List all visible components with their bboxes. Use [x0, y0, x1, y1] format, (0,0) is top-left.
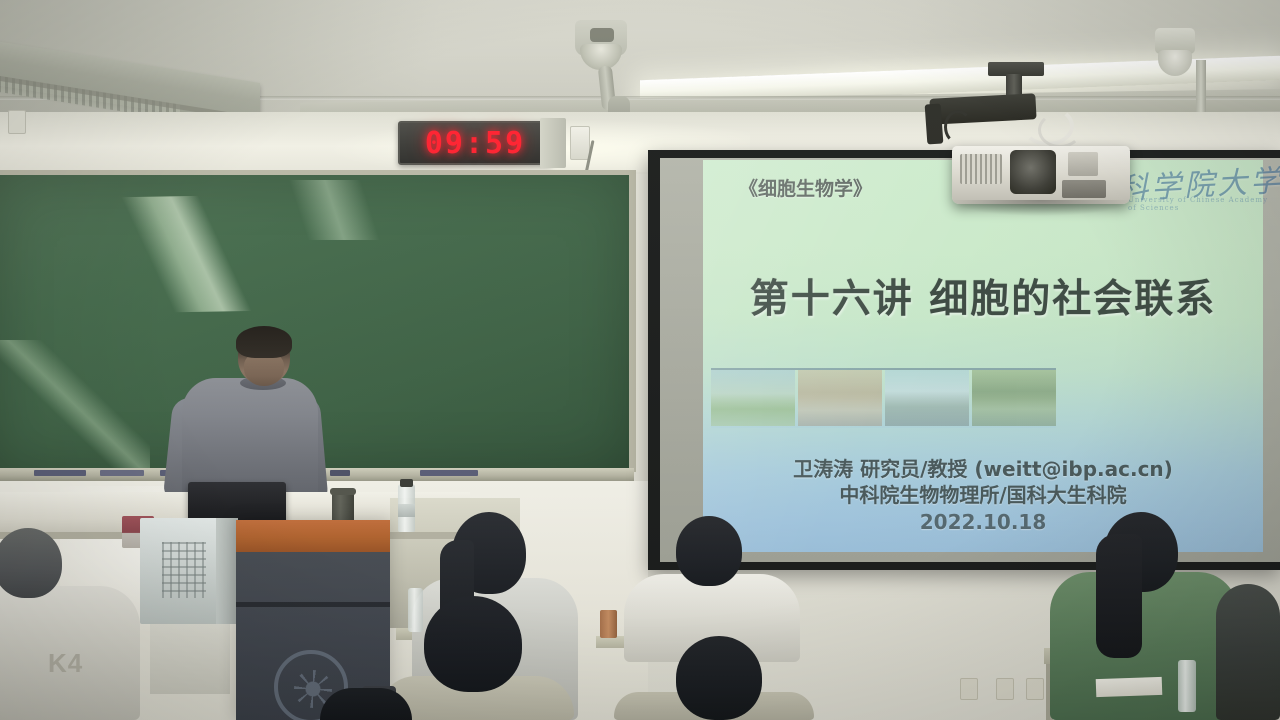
student-center-back-head — [676, 516, 742, 586]
wall-clock: 09:59 — [398, 121, 552, 165]
student-center-low-head — [676, 636, 762, 720]
student-far-right-body — [1216, 584, 1280, 720]
projector-cable-dark — [944, 110, 972, 144]
projector-lens-icon — [1010, 150, 1056, 194]
projected-slide: 《细胞生物学》 第十六讲 细胞的社会联系 卫涛涛 研究员/教授 (weitt@i… — [703, 160, 1263, 552]
projector-mount-clip — [925, 103, 944, 144]
university-watermark-subtext: University of Chinese Academy of Science… — [1128, 196, 1280, 212]
projector-panel — [1068, 152, 1098, 176]
projector-cable-white-secondary — [1038, 112, 1082, 148]
projector-shadow — [952, 200, 1130, 216]
projector-panel-lower — [1062, 180, 1106, 198]
lecture-hall-scene: 09:59 《细胞生物学》 第十六讲 细胞的社会联系 卫涛涛 研究员/教授 (w… — [0, 0, 1280, 720]
corner-sensor-stem — [1196, 60, 1206, 118]
eraser — [34, 470, 86, 476]
student-center-head — [424, 596, 522, 692]
lecturer-hair — [236, 326, 292, 358]
projector-vent — [960, 154, 1002, 184]
wall-plate — [570, 126, 590, 160]
wall-outlet-left — [8, 110, 26, 134]
clock-time-display: 09:59 — [425, 126, 525, 161]
wall-outlet — [1026, 678, 1044, 700]
slide-lecture-title: 第十六讲 细胞的社会联系 — [703, 268, 1263, 324]
water-bottle-on-desk-right — [1178, 660, 1196, 712]
wall-outlet — [996, 678, 1014, 700]
cup-on-desk-center — [600, 610, 617, 638]
podium-top-surface — [236, 520, 390, 552]
chalkboard-glare-lower — [0, 340, 150, 470]
slide-date-line: 2022.10.18 — [703, 509, 1263, 535]
clock-bracket — [540, 118, 566, 168]
student-left-front-head — [0, 528, 62, 598]
wall-outlet — [960, 678, 978, 700]
water-bottle-cap — [400, 479, 413, 487]
student-bottom-center-head — [320, 688, 412, 720]
slide-footer: 卫涛涛 研究员/教授 (weitt@ibp.ac.cn) 中科院生物物理所/国科… — [703, 456, 1263, 535]
student-right-hair — [1096, 534, 1142, 658]
cabinet-stand — [150, 624, 230, 694]
student-jacket-mark: K4 — [48, 648, 83, 679]
eraser — [100, 470, 144, 476]
slide-presenter-line: 卫涛涛 研究员/教授 (weitt@ibp.ac.cn) — [703, 456, 1263, 482]
slide-course-title: 《细胞生物学》 — [739, 174, 872, 201]
water-bottle-label — [398, 504, 415, 517]
ceiling-speaker-grille — [590, 28, 614, 42]
thermos-lid — [330, 488, 356, 495]
photo-strip-overlay — [711, 368, 1056, 428]
papers-on-desk-right — [1096, 677, 1163, 697]
chalkboard-glare-upper — [150, 180, 490, 240]
cabinet-vent-grille — [162, 542, 206, 598]
student-right-body — [1050, 572, 1238, 720]
chalk-piece — [330, 470, 350, 476]
cabinet-side-panel — [216, 518, 238, 624]
eraser — [420, 470, 478, 476]
podium-seam — [236, 602, 390, 607]
water-bottle-on-desk-left — [408, 588, 423, 632]
slide-affiliation-line: 中科院生物物理所/国科大生科院 — [703, 482, 1263, 508]
